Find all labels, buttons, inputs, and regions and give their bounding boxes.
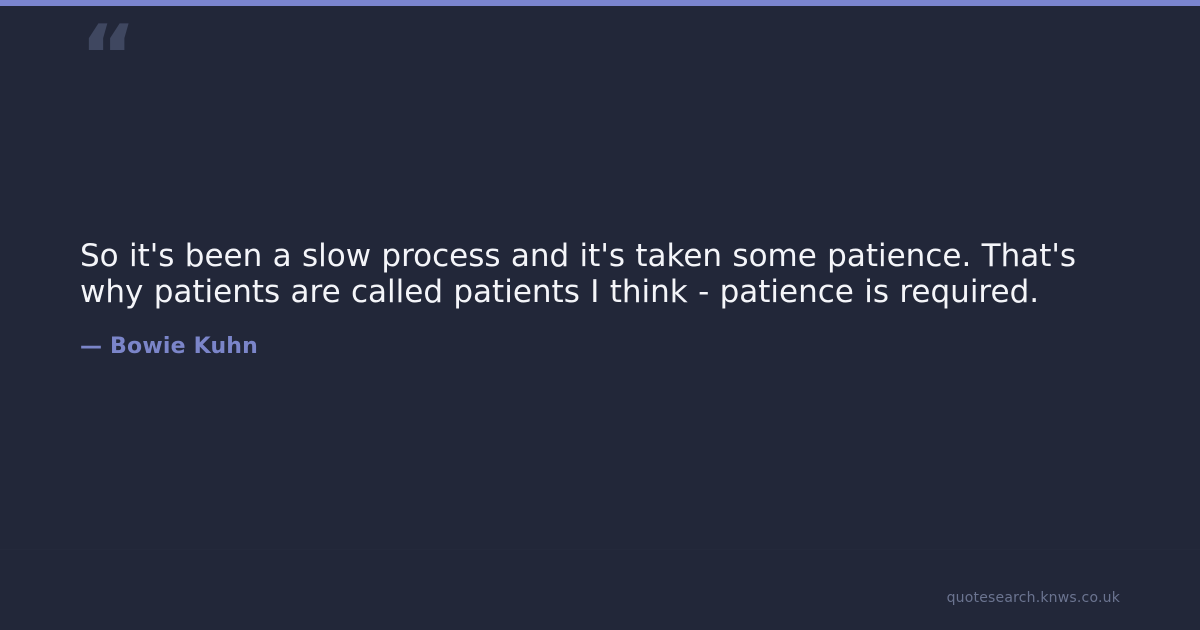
background-seam	[0, 549, 1200, 550]
site-watermark: quotesearch.knws.co.uk	[947, 590, 1120, 606]
quote-card: “ So it's been a slow process and it's t…	[0, 0, 1200, 630]
quote-body: So it's been a slow process and it's tak…	[80, 238, 1120, 359]
open-quote-icon: “	[80, 14, 135, 100]
quote-text: So it's been a slow process and it's tak…	[80, 238, 1120, 310]
quote-attribution: — Bowie Kuhn	[80, 310, 1120, 359]
top-accent-bar	[0, 0, 1200, 6]
